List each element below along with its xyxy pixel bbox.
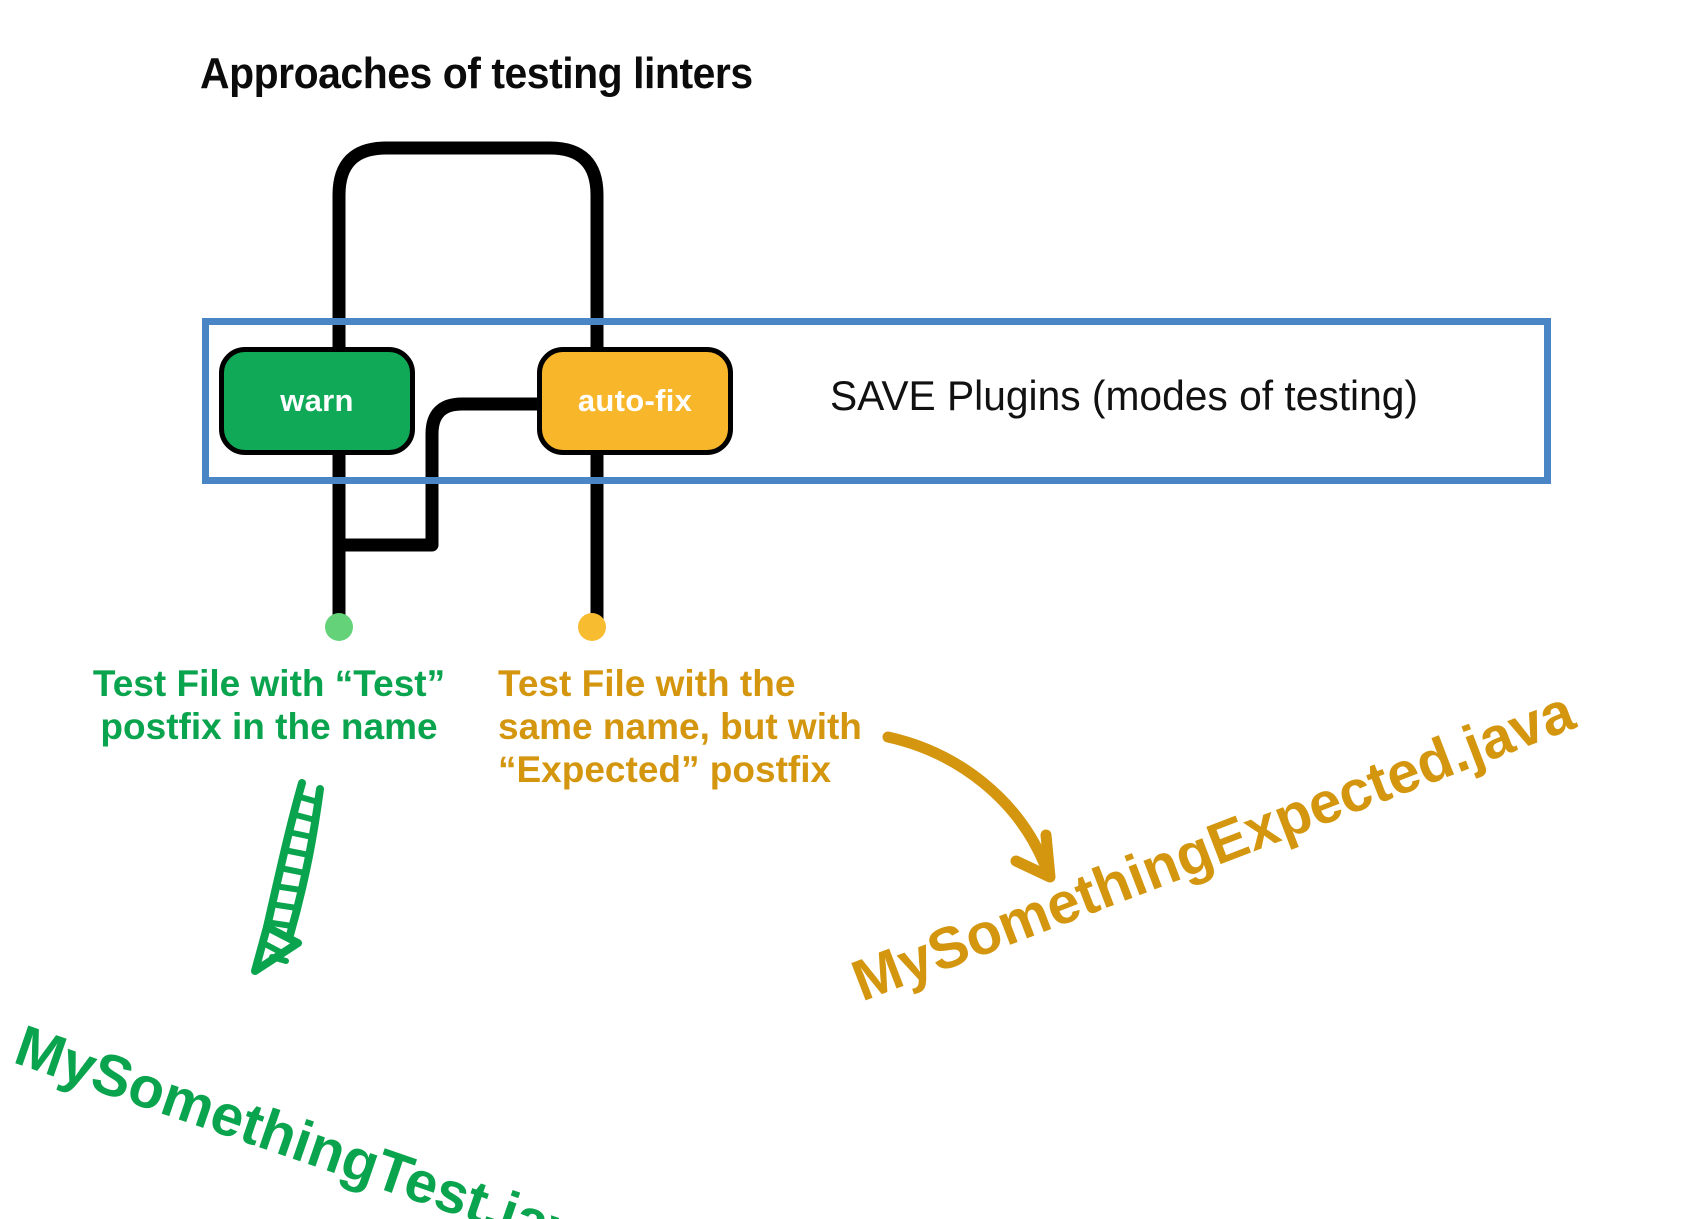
endpoint-dot-warn <box>325 613 353 641</box>
mode-chip-warn[interactable]: warn <box>219 347 415 455</box>
page-title: Approaches of testing linters <box>200 49 753 99</box>
annotation-warn: Test File with “Test” postfix in the nam… <box>88 663 450 749</box>
filename-warn: MySomethingTest.java <box>7 1012 619 1219</box>
endpoint-dot-auto-fix <box>578 613 606 641</box>
connector-wires <box>0 0 1684 1219</box>
mode-chip-auto-fix-label: auto-fix <box>578 383 692 419</box>
hatched-arrow-icon <box>210 775 370 1005</box>
diagram-canvas: Approaches of testing linters SAVE Plugi… <box>0 0 1684 1219</box>
save-plugins-label: SAVE Plugins (modes of testing) <box>830 372 1418 420</box>
annotation-auto-fix: Test File with the same name, but with “… <box>498 663 878 792</box>
mode-chip-warn-label: warn <box>280 383 354 419</box>
mode-chip-auto-fix[interactable]: auto-fix <box>537 347 733 455</box>
